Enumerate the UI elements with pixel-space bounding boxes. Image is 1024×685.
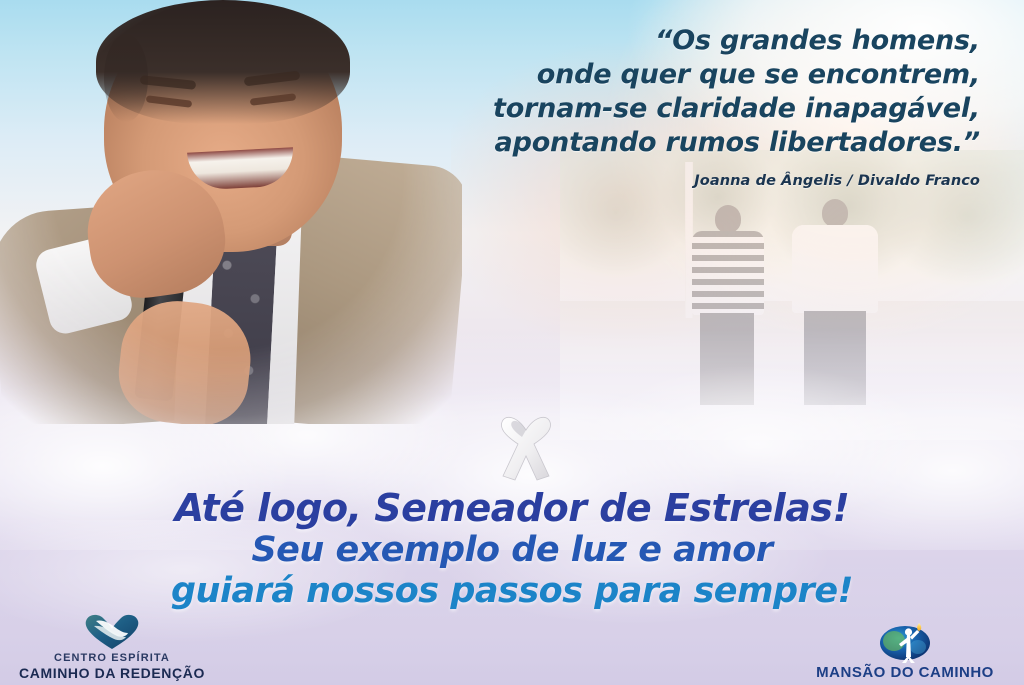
headline-line-1: Até logo, Semeador de Estrelas! (0, 486, 1024, 530)
quote-author: Joanna de Ângelis / Divaldo Franco (420, 173, 980, 189)
logo-mansao-do-caminho: MANSÃO DO CAMINHO (800, 623, 1010, 681)
globe-figure-flame-icon (800, 623, 1010, 663)
logo-left-line-2: CAMINHO DA REDENÇÃO (12, 665, 212, 681)
heart-hands-icon (12, 610, 212, 650)
portrait-divaldo-franco (0, 0, 462, 424)
mourning-ribbon-icon (495, 410, 557, 484)
person-head (715, 205, 741, 233)
person-head (822, 199, 848, 227)
person-torso (792, 225, 878, 313)
portrait-fade-mask (0, 0, 462, 424)
headline-line-2: Seu exemplo de luz e amor (0, 530, 1024, 571)
memorial-poster: “Os grandes homens, onde quer que se enc… (0, 0, 1024, 685)
portrait-hair (96, 0, 350, 124)
quote-line-2: onde quer que se encontrem, (420, 58, 980, 92)
headline-block: Até logo, Semeador de Estrelas! Seu exem… (0, 486, 1024, 612)
logo-right-line-1: MANSÃO DO CAMINHO (800, 664, 1010, 681)
quote-line-4: apontando rumos libertadores.” (420, 126, 980, 160)
quote-line-1: “Os grandes homens, (420, 24, 980, 58)
logo-left-line-1: CENTRO ESPÍRITA (12, 652, 212, 664)
headline-line-3: guiará nossos passos para sempre! (0, 571, 1024, 612)
person-torso (692, 231, 764, 315)
logo-centro-espirita-caminho-da-redencao: CENTRO ESPÍRITA CAMINHO DA REDENÇÃO (12, 610, 212, 681)
quote-block: “Os grandes homens, onde quer que se enc… (420, 24, 980, 189)
quote-line-3: tornam-se claridade inapagável, (420, 92, 980, 126)
